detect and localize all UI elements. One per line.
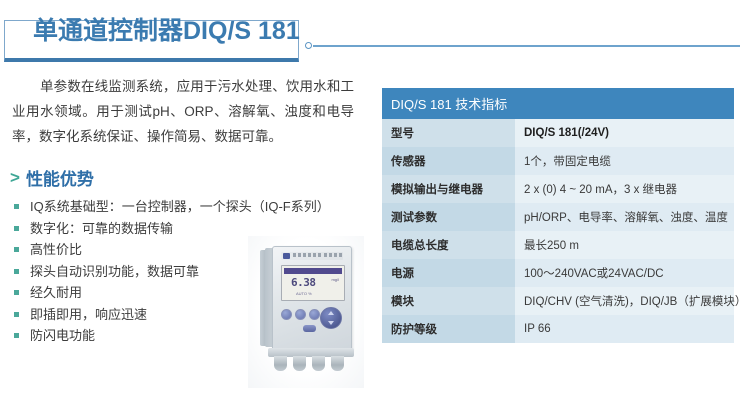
device-button-2 xyxy=(295,309,306,320)
table-cell-value: 最长250 m xyxy=(515,231,734,259)
table-cell-value: pH/ORP、电导率、溶解氧、浊度、温度 xyxy=(515,203,734,231)
cable-gland-2 xyxy=(293,356,306,371)
table-cell-key: 模拟输出与继电器 xyxy=(382,175,515,203)
table-cell-key: 测试参数 xyxy=(382,203,515,231)
lcd-unit-label: mg/l xyxy=(331,277,339,282)
table-row: 测试参数 pH/ORP、电导率、溶解氧、浊度、温度 xyxy=(382,203,734,231)
table-row: 模块 DIQ/CHV (空气清洗)，DIQ/JB（扩展模块） xyxy=(382,287,734,315)
table-cell-value: DIQ/CHV (空气清洗)，DIQ/JB（扩展模块） xyxy=(515,287,734,315)
brand-text-left xyxy=(293,253,323,257)
table-row: 电缆总长度 最长250 m xyxy=(382,231,734,259)
table-row: 传感器 1个，带固定电缆 xyxy=(382,147,734,175)
chevron-right-icon: > xyxy=(10,169,20,186)
cable-gland-1 xyxy=(274,356,287,371)
table-cell-key: 防护等级 xyxy=(382,315,515,343)
product-photo-diq-s181: 6.38 mg/l AUTO % xyxy=(248,236,364,388)
table-cell-key: 型号 xyxy=(382,119,515,147)
cable-gland-3 xyxy=(312,356,325,371)
list-item: IQ系统基础型：一台控制器，一个探头（IQ-F系列） xyxy=(14,196,372,218)
table-row: 模拟输出与继电器 2 x (0) 4 ~ 20 mA，3 x 继电器 xyxy=(382,175,734,203)
lcd-status-label: AUTO % xyxy=(296,291,312,296)
intro-paragraph: 单参数在线监测系统，应用于污水处理、饮用水和工业用水领域。用于测试pH、ORP、… xyxy=(12,74,354,149)
specifications-table: DIQ/S 181 技术指标 型号 DIQ/S 181(/24V) 传感器 1个… xyxy=(382,88,734,343)
title-horizontal-rule xyxy=(313,45,740,47)
table-cell-key: 电源 xyxy=(382,259,515,287)
device-navigation-knob xyxy=(320,307,342,329)
brand-logo-icon xyxy=(283,253,290,259)
table-cell-key: 电缆总长度 xyxy=(382,231,515,259)
table-cell-key: 传感器 xyxy=(382,147,515,175)
table-caption: DIQ/S 181 技术指标 xyxy=(382,88,734,119)
table-cell-key: 模块 xyxy=(382,287,515,315)
table-row: 电源 100～240VAC或24VAC/DC xyxy=(382,259,734,287)
lcd-title-bar xyxy=(284,268,342,274)
page-title: 单通道控制器DIQ/S 181 xyxy=(33,14,300,48)
section-heading-label: 性能优势 xyxy=(26,165,94,190)
device-button-esc xyxy=(303,325,316,332)
device-front-body: 6.38 mg/l AUTO % xyxy=(272,246,352,352)
device-button-3 xyxy=(309,309,320,320)
device-lcd-screen: 6.38 mg/l AUTO % xyxy=(281,265,345,301)
cable-gland-4 xyxy=(331,356,344,371)
table-cell-value: 2 x (0) 4 ~ 20 mA，3 x 继电器 xyxy=(515,175,734,203)
table-cell-value: IP 66 xyxy=(515,315,734,343)
device-button-1 xyxy=(281,309,292,320)
section-heading-advantages: > 性能优势 xyxy=(10,165,372,190)
lcd-reading-value: 6.38 xyxy=(291,276,316,289)
table-body: 型号 DIQ/S 181(/24V) 传感器 1个，带固定电缆 模拟输出与继电器… xyxy=(382,119,734,343)
table-cell-value: 1个，带固定电缆 xyxy=(515,147,734,175)
table-cell-value: 100～240VAC或24VAC/DC xyxy=(515,259,734,287)
page-header: 单通道控制器DIQ/S 181 xyxy=(0,14,740,70)
table-row: 型号 DIQ/S 181(/24V) xyxy=(382,119,734,147)
table-row: 防护等级 IP 66 xyxy=(382,315,734,343)
brand-text-right xyxy=(324,253,342,257)
title-circle-marker xyxy=(305,42,312,49)
table-cell-value: DIQ/S 181(/24V) xyxy=(515,119,734,147)
